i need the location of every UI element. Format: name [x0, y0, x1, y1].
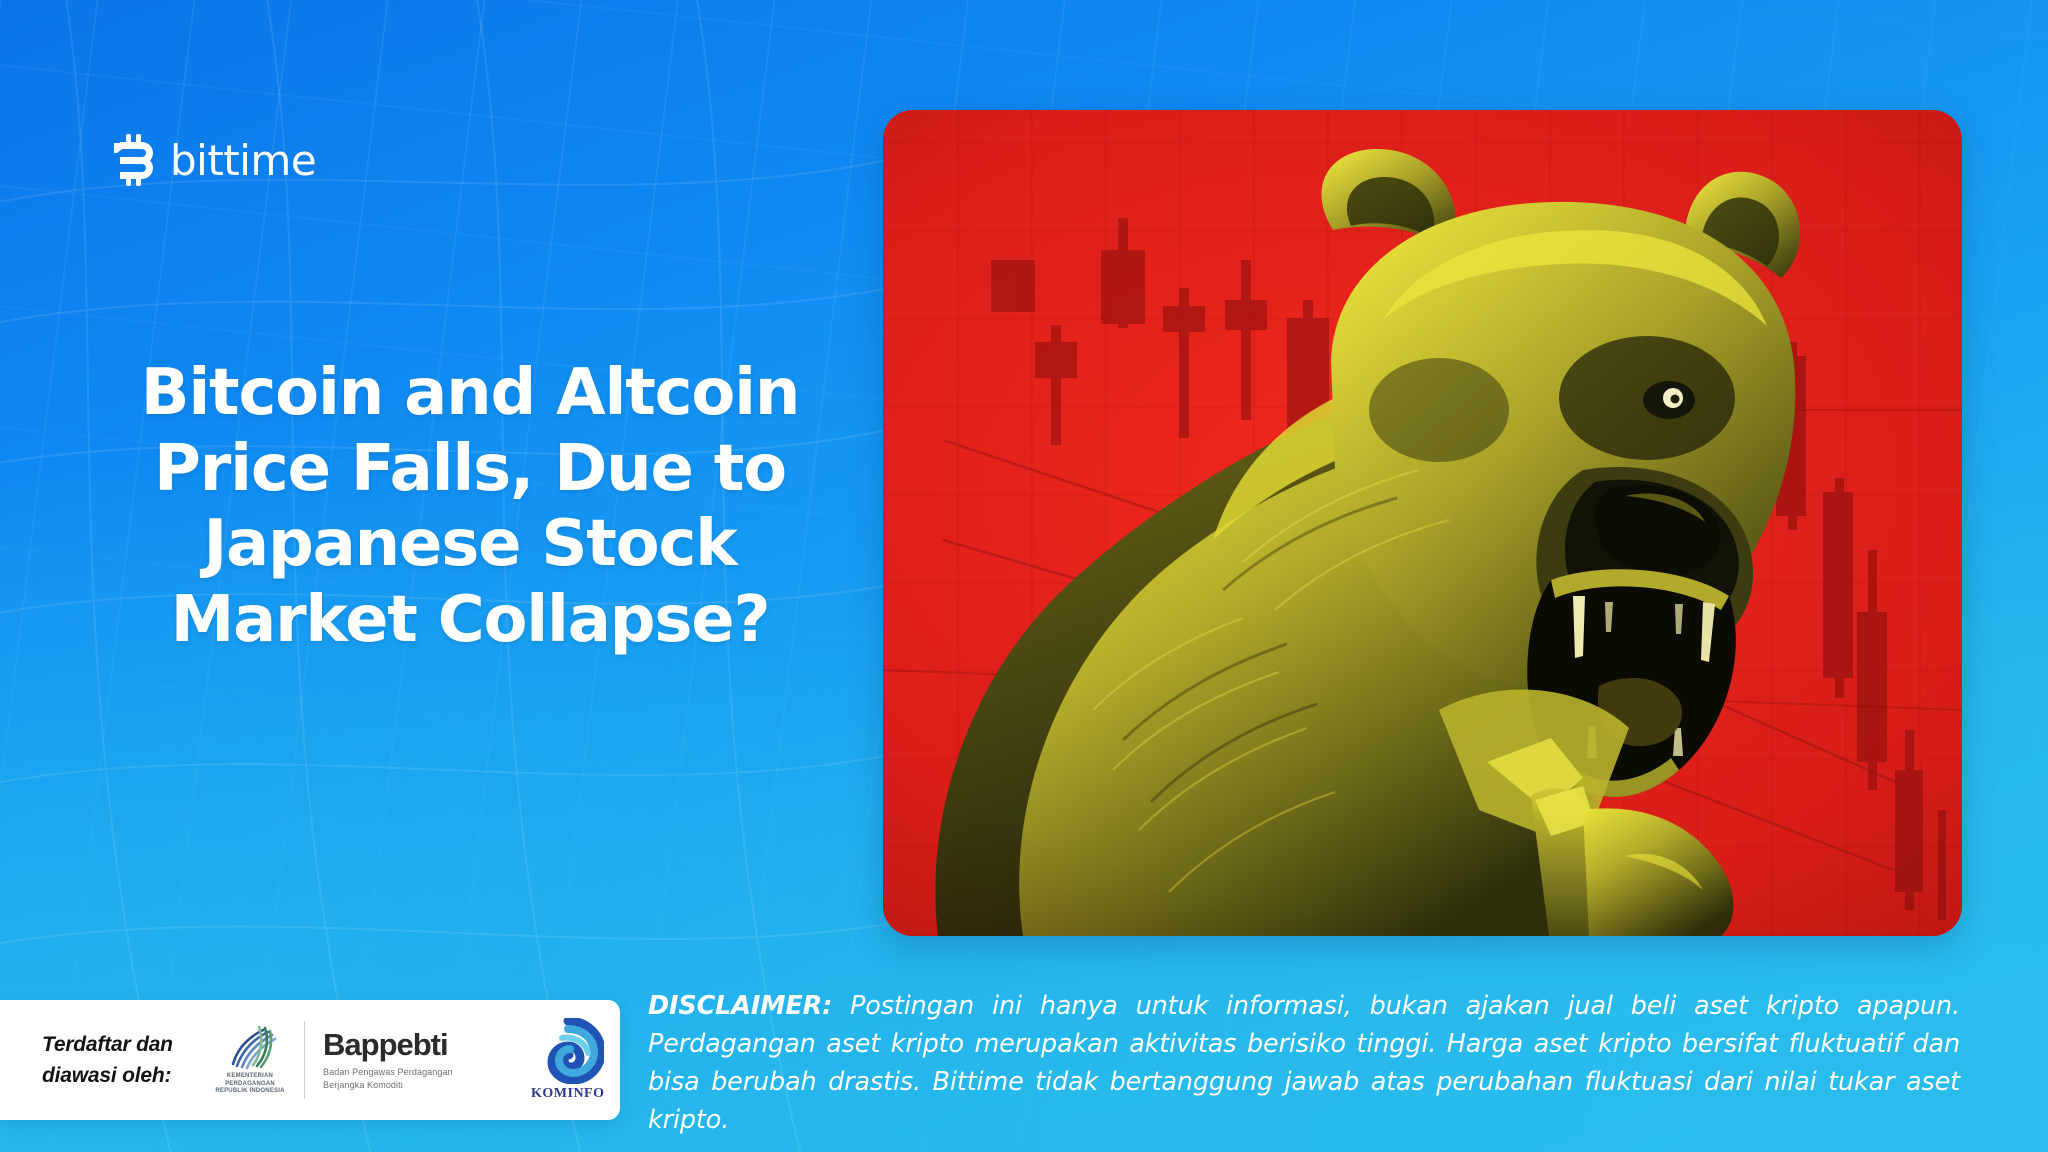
bappebti-logo: Bappebti Badan Pengawas Perdagangan Berj…	[323, 1029, 513, 1090]
kominfo-logo: KOMINFO	[531, 1018, 605, 1102]
kemendag-line1: KEMENTERIAN	[215, 1073, 284, 1081]
brand-logo[interactable]: bittime	[112, 134, 316, 186]
kominfo-label: KOMINFO	[531, 1086, 605, 1102]
bitcoin-b-icon	[112, 134, 156, 186]
bappebti-name: Bappebti	[323, 1029, 513, 1060]
badge-lead-text: Terdaftar dan diawasi oleh:	[0, 1029, 210, 1092]
kominfo-wave-icon	[532, 1018, 604, 1084]
regulator-badge-bar: Terdaftar dan diawasi oleh: KEMENTERIAN …	[0, 1000, 620, 1120]
kemendag-line3: REPUBLIK INDONESIA	[215, 1088, 284, 1096]
bappebti-subtitle: Badan Pengawas Perdagangan Berjangka Kom…	[323, 1066, 513, 1090]
kemendag-logo: KEMENTERIAN PERDAGANGAN REPUBLIK INDONES…	[210, 1024, 290, 1096]
kemendag-line2: PERDAGANGAN	[215, 1081, 284, 1089]
page-title: Bitcoin and Altcoin Price Falls, Due to …	[120, 356, 820, 658]
badge-lead-line1: Terdaftar dan	[42, 1029, 210, 1061]
kemendag-label: KEMENTERIAN PERDAGANGAN REPUBLIK INDONES…	[215, 1073, 284, 1096]
kemendag-emblem-icon	[223, 1024, 277, 1070]
badge-lead-line2: diawasi oleh:	[42, 1060, 210, 1092]
badge-divider	[304, 1021, 305, 1099]
hero-image-card	[883, 110, 1962, 936]
bappebti-sub-line1: Badan Pengawas Perdagangan	[323, 1066, 513, 1078]
disclaimer-label: DISCLAIMER:	[648, 991, 832, 1021]
disclaimer-text: DISCLAIMER: Postingan ini hanya untuk in…	[648, 988, 1960, 1140]
bear-illustration-icon	[883, 110, 1962, 936]
bappebti-sub-line2: Berjangka Komoditi	[323, 1079, 513, 1091]
brand-logo-text: bittime	[170, 136, 316, 185]
disclaimer-body: Postingan ini hanya untuk informasi, buk…	[648, 991, 1960, 1135]
